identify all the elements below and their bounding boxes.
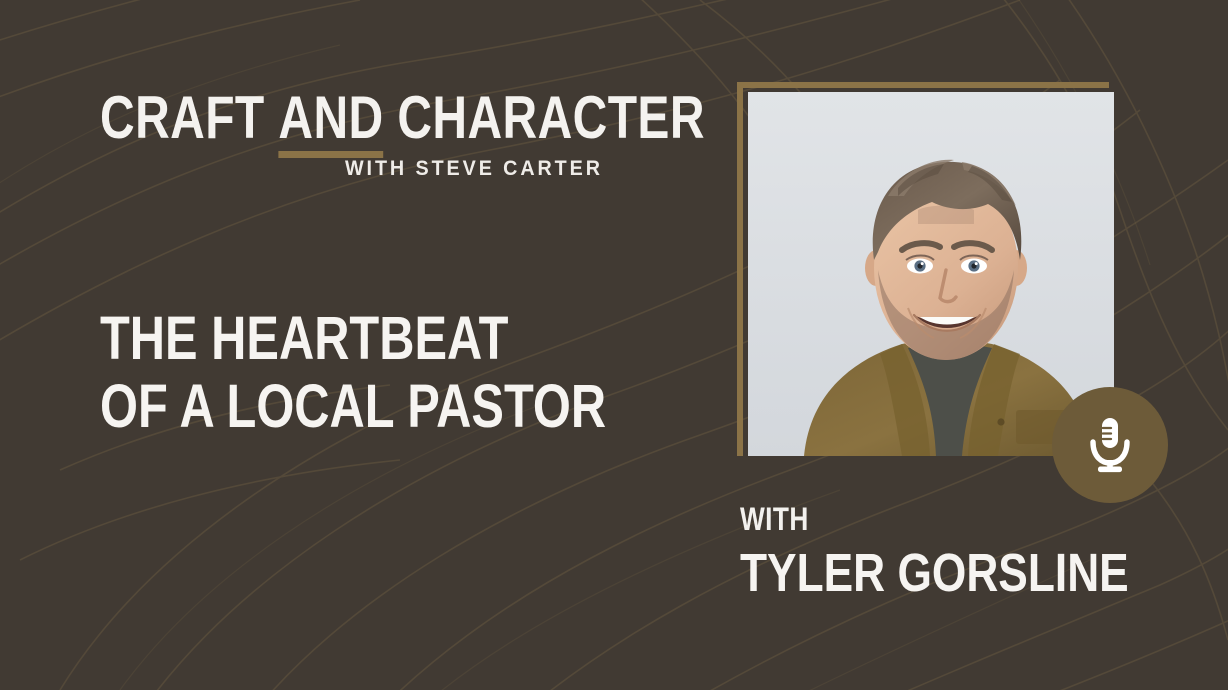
episode-title-line-2: OF A LOCAL PASTOR — [100, 372, 548, 440]
brand-logo-word-and: AND — [278, 84, 383, 151]
guest-name: TYLER GORSLINE — [740, 544, 1101, 602]
episode-cover-card: CRAFT AND CHARACTER WITH STEVE CARTER TH… — [0, 0, 1228, 690]
episode-title-line-1: THE HEARTBEAT — [100, 304, 548, 372]
brand-logo-word-craft: CRAFT — [100, 84, 265, 151]
guest-credit: WITH TYLER GORSLINE — [740, 502, 1180, 602]
guest-with-label: WITH — [740, 502, 1101, 536]
brand-logo-word-character: CHARACTER — [397, 84, 705, 151]
guest-photo — [748, 92, 1114, 456]
microphone-badge — [1052, 387, 1168, 503]
brand-host-line: WITH STEVE CARTER — [345, 157, 603, 181]
brand-logo: CRAFT AND CHARACTER — [100, 88, 700, 148]
episode-title: THE HEARTBEAT OF A LOCAL PASTOR — [100, 304, 660, 440]
brand-logo-wordmark: CRAFT AND CHARACTER — [100, 88, 580, 148]
brand-logo-word-and-wrap: AND — [278, 88, 383, 148]
guest-headshot-illustration — [748, 92, 1114, 456]
microphone-icon — [1083, 416, 1137, 474]
